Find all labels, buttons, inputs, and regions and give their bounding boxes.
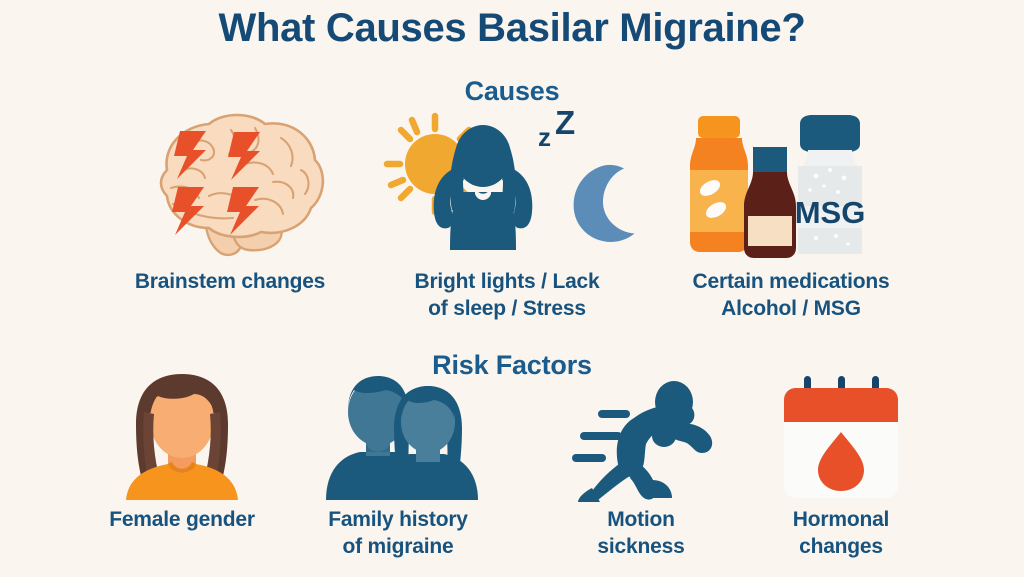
section-heading-causes: Causes — [0, 76, 1024, 107]
item-motion-sickness: Motion sickness — [556, 380, 726, 560]
calendar-header — [784, 388, 898, 422]
pill-bottle-icon — [690, 116, 748, 252]
two-people-icon — [298, 372, 498, 502]
brain-with-lightning-icon — [105, 104, 355, 264]
caption-line: Alcohol / MSG — [660, 295, 922, 322]
item-hormonal-changes: Hormonal changes — [756, 374, 926, 560]
caption-medications: Certain medications Alcohol / MSG — [660, 268, 922, 322]
caption-line: Brainstem changes — [105, 268, 355, 295]
item-brainstem-changes: Brainstem changes — [105, 104, 355, 295]
caption-line: Female gender — [92, 506, 272, 533]
caption-triggers: Bright lights / Lack of sleep / Stress — [378, 268, 636, 322]
caption-line: Hormonal — [756, 506, 926, 533]
caption-line: Bright lights / Lack — [378, 268, 636, 295]
caption-line: changes — [756, 533, 926, 560]
item-family-history: Family history of migraine — [298, 372, 498, 560]
sun-stressed-person-moon-icon: z Z — [378, 104, 636, 264]
calendar-droplet-icon — [756, 374, 926, 502]
caption-hormonal-changes: Hormonal changes — [756, 506, 926, 560]
caption-line: Family history — [298, 506, 498, 533]
item-triggers: z Z Bright lights / Lack of sleep / Stre… — [378, 104, 636, 322]
sleep-z-large: Z — [555, 104, 575, 141]
msg-shaker-icon: MSG — [795, 115, 866, 254]
running-person-motion-icon — [556, 380, 726, 502]
msg-bottle-label: MSG — [795, 195, 866, 230]
caption-line: of migraine — [298, 533, 498, 560]
item-medications: MSG Certain medications Alcohol / MSG — [660, 104, 922, 322]
caption-line: of sleep / Stress — [378, 295, 636, 322]
caption-motion-sickness: Motion sickness — [556, 506, 726, 560]
page-title: What Causes Basilar Migraine? — [0, 2, 1024, 54]
caption-line: Certain medications — [660, 268, 922, 295]
caption-female-gender: Female gender — [92, 506, 272, 533]
bottles-icon: MSG — [660, 104, 922, 264]
crescent-moon-icon — [574, 165, 635, 242]
caption-line: Motion — [556, 506, 726, 533]
sleep-z-small: z — [538, 122, 551, 152]
caption-family-history: Family history of migraine — [298, 506, 498, 560]
caption-brainstem-changes: Brainstem changes — [105, 268, 355, 295]
alcohol-bottle-icon — [744, 147, 796, 258]
infographic-canvas: What Causes Basilar Migraine? Causes — [0, 0, 1024, 577]
item-female-gender: Female gender — [92, 372, 272, 533]
female-avatar-icon — [92, 372, 272, 502]
caption-line: sickness — [556, 533, 726, 560]
